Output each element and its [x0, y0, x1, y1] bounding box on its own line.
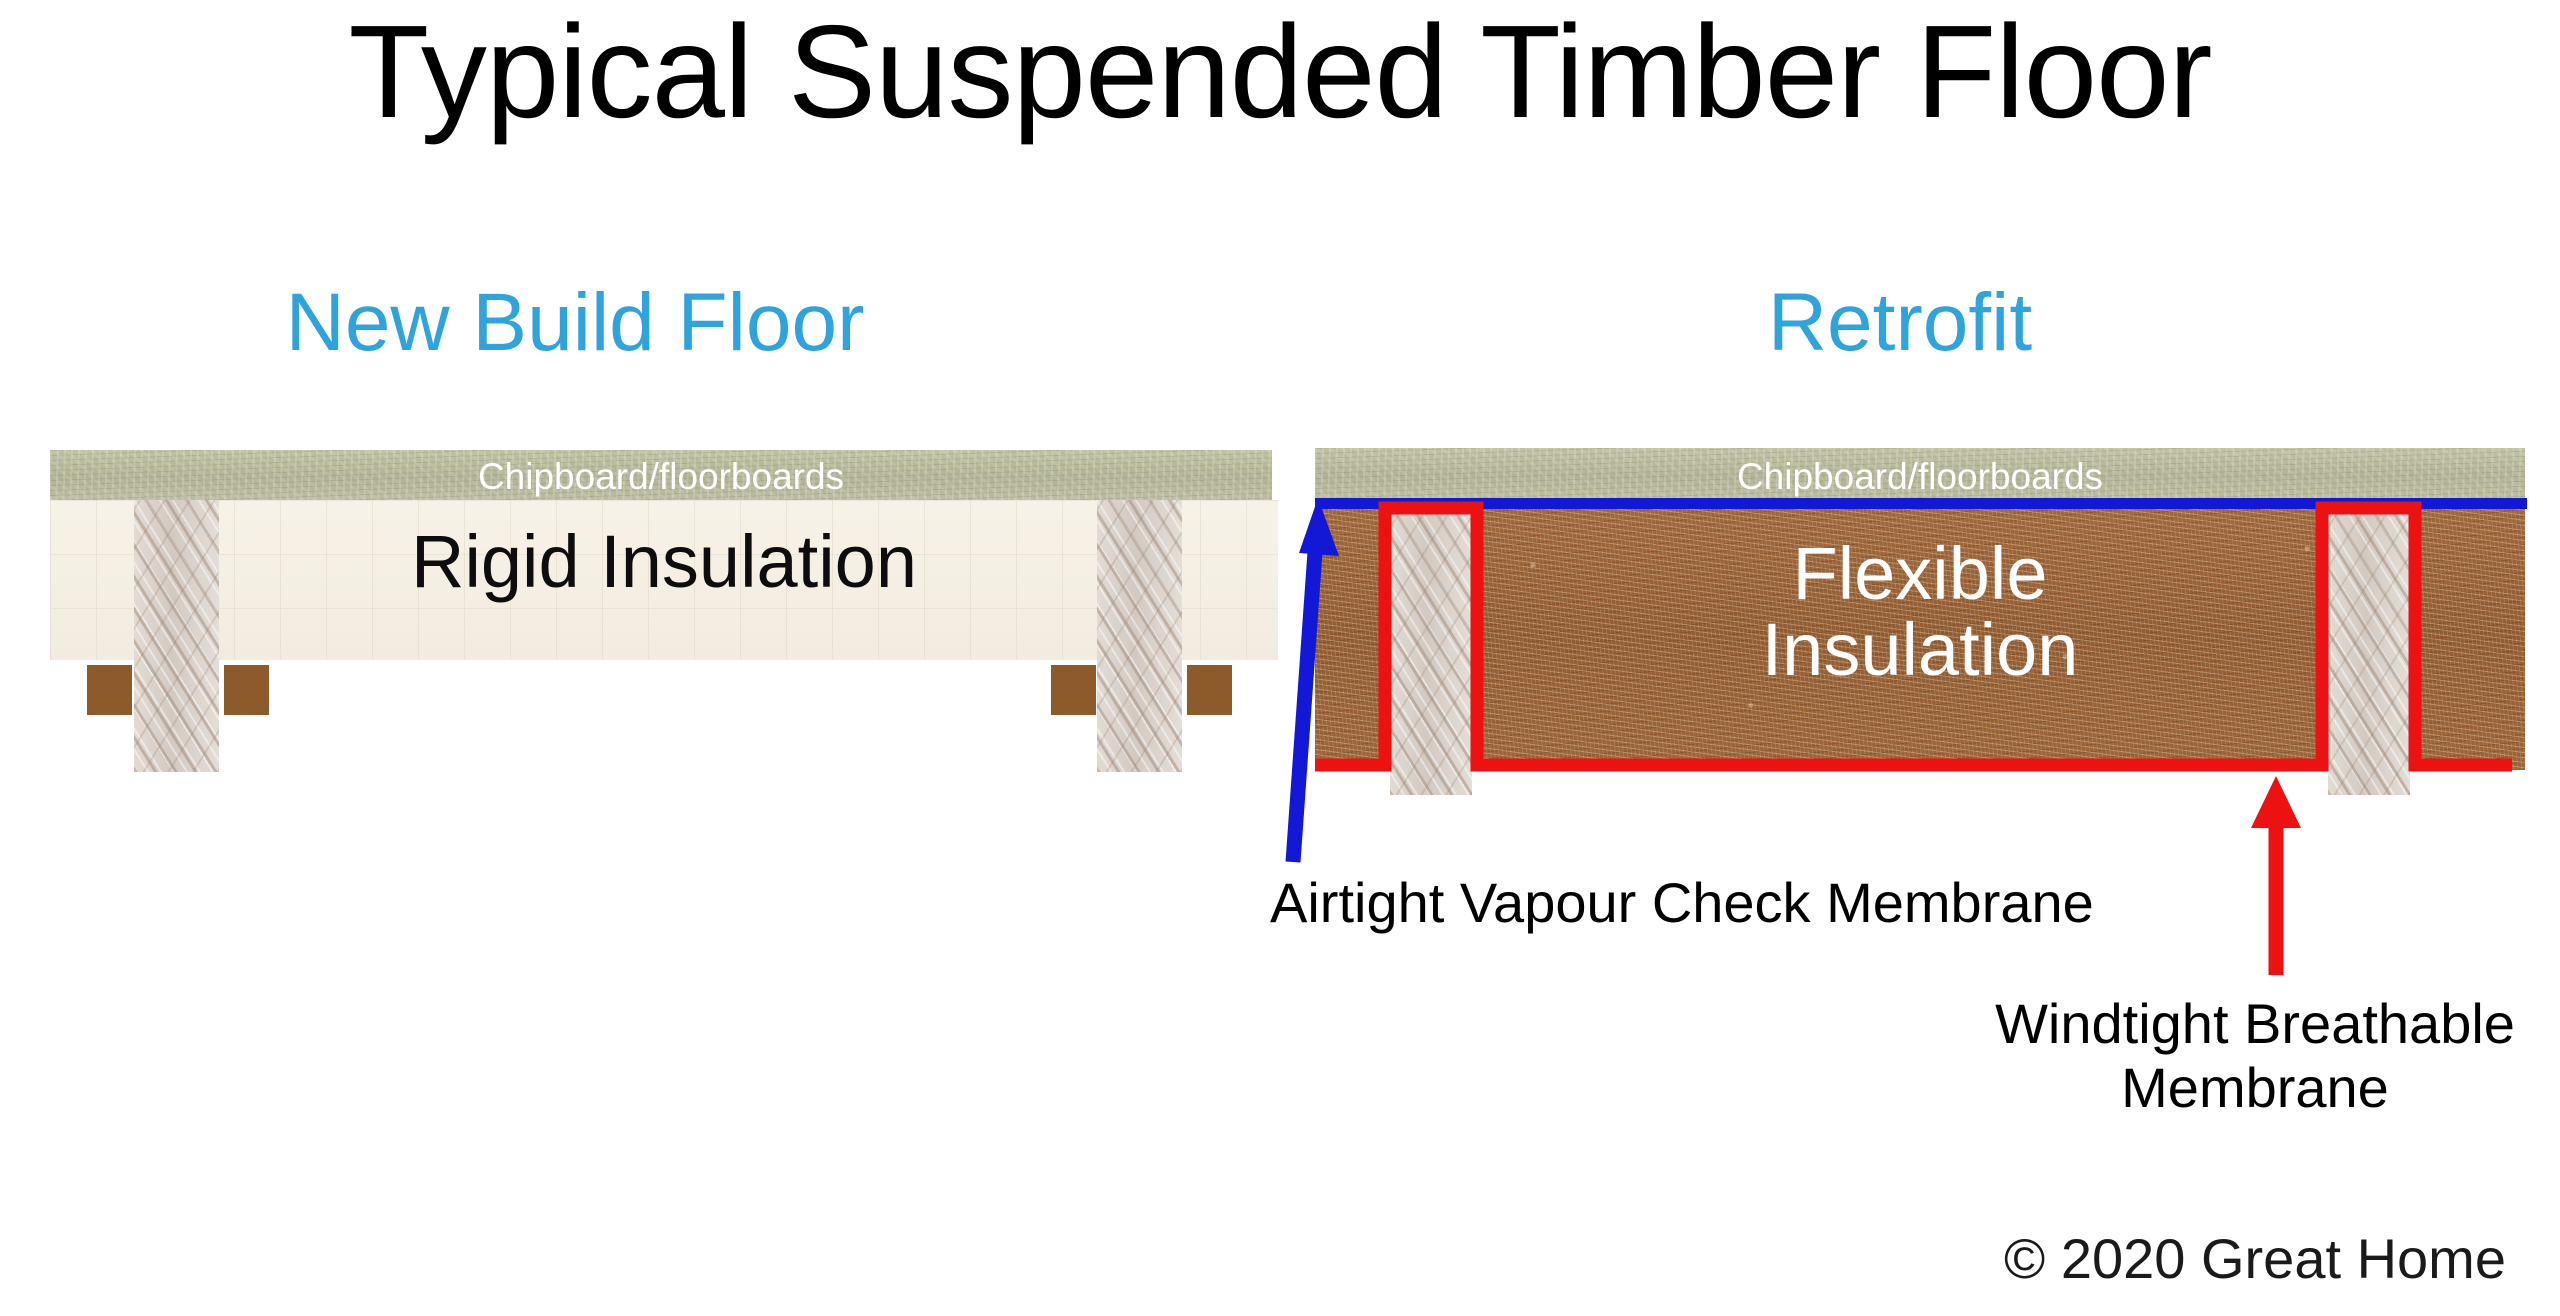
retrofit-chipboard-label: Chipboard/floorboards [1315, 457, 2525, 497]
retrofit-floor-diagram: Chipboard/floorboards Flexible Insulatio… [0, 0, 2560, 900]
callout-label-windtight-line2: Membrane [1955, 1056, 2555, 1120]
airtight-vapour-check-membrane-line [1315, 498, 2527, 509]
retrofit-insulation-label-line1: Flexible [1315, 536, 2525, 612]
callout-label-windtight: Windtight Breathable Membrane [1955, 992, 2555, 1120]
windtight-membrane-leader-arrow [2251, 776, 2301, 975]
retrofit-insulation-label-line2: Insulation [1315, 612, 2525, 688]
copyright-notice: © 2020 Great Home [1955, 1228, 2555, 1290]
retrofit-insulation-label: Flexible Insulation [1315, 536, 2525, 688]
callout-label-vapour-check: Airtight Vapour Check Membrane [1270, 872, 1850, 934]
callout-label-windtight-line1: Windtight Breathable [1955, 992, 2555, 1056]
